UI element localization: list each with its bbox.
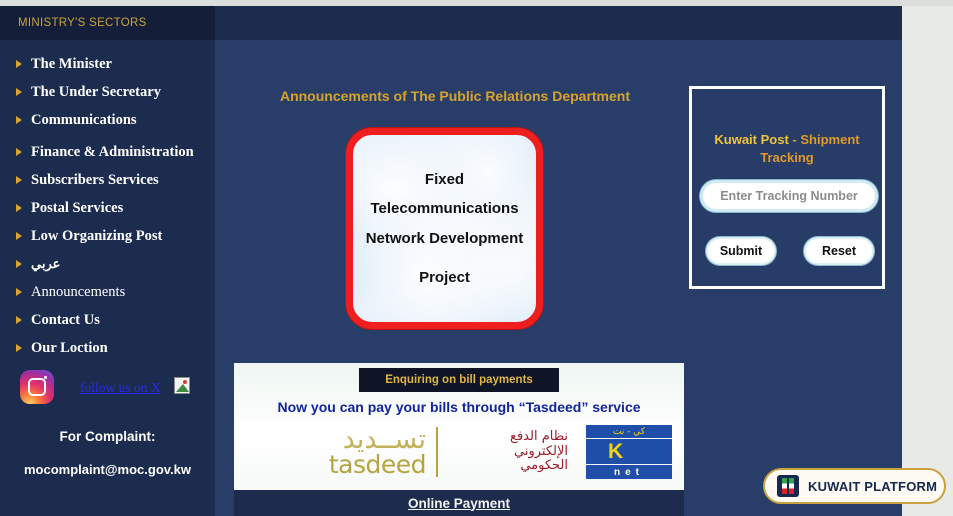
main-content: Announcements of The Public Relations De…	[215, 6, 902, 516]
sidebar-item-label: Finance & Administration	[31, 144, 194, 161]
tracking-title-part1: Kuwait Post	[714, 132, 788, 147]
sidebar-item-label: Subscribers Services	[31, 172, 159, 189]
knet-k-mark: K	[586, 438, 672, 465]
sidebar-header: MINISTRY'S SECTORS	[0, 6, 215, 40]
promo-card-line: Fixed	[425, 172, 464, 188]
triangle-bullet-icon	[16, 148, 22, 156]
online-payment-link[interactable]: Online Payment	[408, 496, 510, 511]
tracking-buttons: Submit Reset	[708, 239, 872, 263]
triangle-bullet-icon	[16, 344, 22, 352]
banner-arabic-line: نظام الدفع	[448, 430, 568, 445]
broken-image-icon	[174, 377, 190, 394]
tracking-panel-title: Kuwait Post - Shipment Tracking	[700, 131, 874, 166]
sidebar-item-subscribers-services[interactable]: Subscribers Services	[0, 166, 215, 194]
kuwait-platform-logo-icon	[777, 475, 799, 497]
banner-arabic-line: الحكومي	[448, 459, 568, 474]
sidebar-item-label: Contact Us	[31, 312, 100, 329]
submit-button[interactable]: Submit	[708, 239, 774, 263]
knet-net-label: net	[586, 465, 672, 479]
sidebar-item-label: The Minister	[31, 56, 112, 73]
sidebar-item-label: Communications	[31, 112, 137, 129]
social-links-row: follow us on X	[0, 366, 215, 410]
knet-logo: كي - نت K net	[586, 425, 672, 479]
page-root: MINISTRY'S SECTORS The Minister The Unde…	[0, 0, 953, 516]
sidebar-item-contact-us[interactable]: Contact Us	[0, 306, 215, 334]
sidebar-item-finance-administration[interactable]: Finance & Administration	[0, 138, 215, 166]
promo-card-fixed-telecom-project[interactable]: Fixed Telecommunications Network Develop…	[346, 128, 543, 329]
triangle-bullet-icon	[16, 316, 22, 324]
sidebar-item-label: Postal Services	[31, 200, 123, 217]
kuwait-platform-label: KUWAIT PLATFORM	[808, 479, 937, 494]
banner-arabic-line: الإلكتروني	[448, 445, 568, 460]
sidebar-header-label: MINISTRY'S SECTORS	[18, 17, 147, 29]
sidebar-nav: The Minister The Under Secretary Communi…	[0, 40, 215, 362]
kuwait-platform-watermark: KUWAIT PLATFORM	[763, 468, 946, 504]
promo-card-line: Project	[419, 270, 470, 286]
tasdeed-logo: تســديد tasdeed	[246, 427, 438, 476]
follow-us-on-x-link[interactable]: follow us on X	[80, 380, 161, 396]
triangle-bullet-icon	[16, 116, 22, 124]
knet-letter: K	[608, 441, 623, 462]
sidebar-item-the-under-secretary[interactable]: The Under Secretary	[0, 78, 215, 106]
sidebar-item-label: Announcements	[31, 284, 125, 301]
sidebar-item-label: Low Organizing Post	[31, 228, 162, 245]
complaint-email[interactable]: mocomplaint@moc.gov.kw	[0, 462, 215, 477]
triangle-bullet-icon	[16, 88, 22, 96]
sidebar-item-label: Our Loction	[31, 340, 108, 357]
complaint-title: For Complaint:	[0, 429, 215, 444]
triangle-bullet-icon	[16, 204, 22, 212]
instagram-icon[interactable]	[20, 370, 54, 404]
sidebar-item-postal-services[interactable]: Postal Services	[0, 194, 215, 222]
shipment-tracking-panel: Kuwait Post - Shipment Tracking Submit R…	[689, 86, 885, 289]
sidebar-item-our-loction[interactable]: Our Loction	[0, 334, 215, 362]
banner-subtitle: Now you can pay your bills through “Tasd…	[234, 399, 684, 415]
promo-card-line: Telecommunications	[370, 201, 518, 217]
triangle-bullet-icon	[16, 176, 22, 184]
website-viewport: MINISTRY'S SECTORS The Minister The Unde…	[0, 6, 902, 516]
reset-button[interactable]: Reset	[806, 239, 872, 263]
banner-tag: Enquiring on bill payments	[359, 368, 559, 392]
sidebar-item-announcements[interactable]: Announcements	[0, 278, 215, 306]
sidebar-item-the-minister[interactable]: The Minister	[0, 50, 215, 78]
tracking-number-input[interactable]	[703, 183, 875, 209]
sidebar-item-communications[interactable]: Communications	[0, 106, 215, 134]
sidebar-item-label: The Under Secretary	[31, 84, 161, 101]
triangle-bullet-icon	[16, 260, 22, 268]
sidebar-item-low-organizing-post[interactable]: Low Organizing Post	[0, 222, 215, 250]
online-payment-bar: Online Payment	[234, 490, 684, 516]
triangle-bullet-icon	[16, 288, 22, 296]
promo-card-line: Network Development	[366, 231, 524, 247]
sidebar: MINISTRY'S SECTORS The Minister The Unde…	[0, 6, 215, 516]
banner-logos: تســديد tasdeed نظام الدفع الإلكتروني ال…	[234, 421, 684, 483]
banner-arabic-description: نظام الدفع الإلكتروني الحكومي	[438, 430, 568, 475]
announcement-title: Announcements of The Public Relations De…	[235, 88, 675, 104]
sidebar-item-label: عربي	[31, 256, 60, 272]
tasdeed-latin-wordmark: tasdeed	[246, 453, 426, 477]
sidebar-item-arabic[interactable]: عربي	[0, 250, 215, 278]
main-topbar	[215, 6, 902, 40]
banner-tag-label: Enquiring on bill payments	[385, 374, 533, 386]
knet-arabic-label: كي - نت	[586, 425, 672, 438]
triangle-bullet-icon	[16, 232, 22, 240]
triangle-bullet-icon	[16, 60, 22, 68]
